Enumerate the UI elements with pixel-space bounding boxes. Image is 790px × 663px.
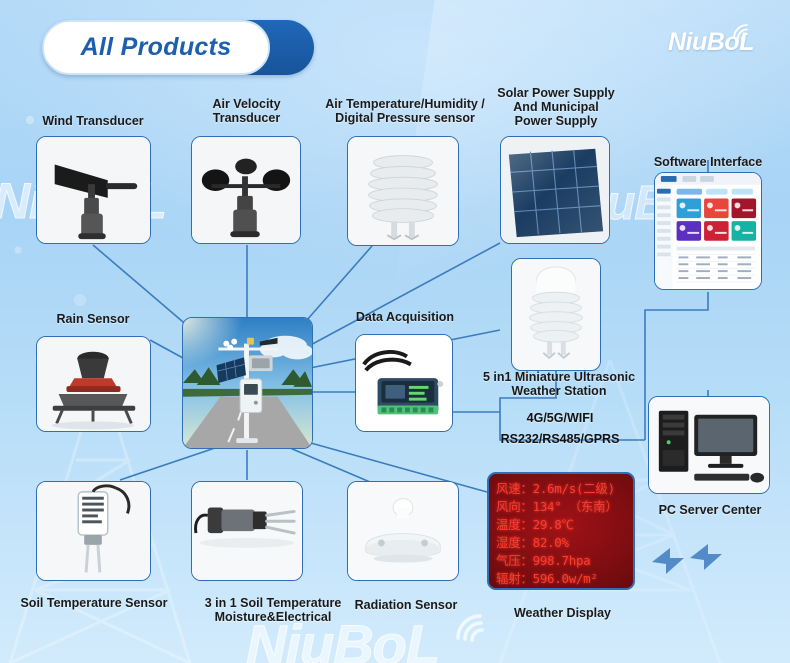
all-products-banner-face: All Products	[42, 20, 270, 75]
pc-server-center-image	[649, 397, 769, 493]
all-products-banner[interactable]: All Products	[42, 20, 314, 75]
rain-sensor-image	[37, 337, 150, 431]
label-soil-3in1-sensor: 3 in 1 Soil Temperature Moisture&Electri…	[178, 596, 368, 624]
card-ultrasonic-weather-station[interactable]	[511, 258, 601, 371]
data-acquisition-image	[356, 335, 452, 431]
card-weather-display[interactable]: 风速：2.6m/s(二级) 风向：134° （东南） 温度：29.8℃ 湿度：8…	[487, 472, 635, 590]
label-air-velocity-transducer: Air Velocity Transducer	[184, 97, 309, 125]
card-soil-temperature-sensor[interactable]	[36, 481, 151, 581]
label-solar-power-supply: Solar Power Supply And Municipal Power S…	[492, 86, 620, 128]
card-central-weather-station[interactable]	[182, 317, 313, 449]
led-row-pressure: 气压：998.7hpa	[496, 552, 633, 570]
brand-wifi-arc-icon	[731, 22, 753, 40]
wind-transducer-image	[37, 137, 150, 243]
card-software-interface[interactable]	[654, 172, 762, 290]
soil-temperature-sensor-image	[37, 482, 150, 580]
label-software-interface: Software Interface	[640, 155, 776, 169]
card-radiation-sensor[interactable]	[347, 481, 459, 581]
card-air-temperature-humidity[interactable]	[347, 136, 459, 246]
central-weather-station-image	[183, 318, 312, 448]
label-network-serial: RS232/RS485/GPRS	[490, 432, 630, 446]
label-ultrasonic-weather-station: 5 in1 Miniature Ultrasonic Weather Stati…	[481, 370, 637, 398]
label-soil-temperature-sensor: Soil Temperature Sensor	[14, 596, 174, 610]
card-solar-power-supply[interactable]	[500, 136, 610, 244]
card-wind-transducer[interactable]	[36, 136, 151, 244]
radiation-sensor-image	[348, 482, 458, 580]
label-data-acquisition: Data Acquisition	[345, 310, 465, 324]
led-row-wind-direction: 风向：134° （东南）	[496, 498, 633, 516]
all-products-label: All Products	[81, 33, 232, 62]
solar-power-supply-image	[501, 137, 609, 243]
air-velocity-transducer-image	[192, 137, 300, 243]
card-soil-3in1-sensor[interactable]	[191, 481, 303, 581]
poster-canvas: NiuBoL NiuBoL NiuBoL NiuBoL All Products	[0, 0, 790, 663]
card-air-velocity-transducer[interactable]	[191, 136, 301, 244]
label-rain-sensor: Rain Sensor	[28, 312, 158, 326]
ultrasonic-weather-station-image	[512, 259, 600, 369]
label-air-temperature-humidity: Air Temperature/Humidity / Digital Press…	[310, 97, 500, 125]
label-wind-transducer: Wind Transducer	[18, 114, 168, 128]
label-pc-server-center: PC Server Center	[645, 503, 775, 517]
label-network-wireless: 4G/5G/WIFI	[500, 411, 620, 425]
led-row-temperature: 温度：29.8℃	[496, 516, 633, 534]
software-interface-image	[655, 173, 761, 289]
chevron-decoration-icon	[650, 540, 742, 588]
card-data-acquisition[interactable]	[355, 334, 453, 432]
label-weather-display: Weather Display	[500, 606, 625, 620]
air-temperature-humidity-image	[348, 137, 458, 245]
led-row-humidity: 湿度：82.0%	[496, 534, 633, 552]
card-rain-sensor[interactable]	[36, 336, 151, 432]
led-row-wind-speed: 风速：2.6m/s(二级)	[496, 480, 633, 498]
card-pc-server-center[interactable]	[648, 396, 770, 494]
label-radiation-sensor: Radiation Sensor	[345, 598, 467, 612]
led-row-radiation: 辐射：596.0w/m²	[496, 570, 633, 588]
soil-3in1-sensor-image	[192, 482, 302, 580]
